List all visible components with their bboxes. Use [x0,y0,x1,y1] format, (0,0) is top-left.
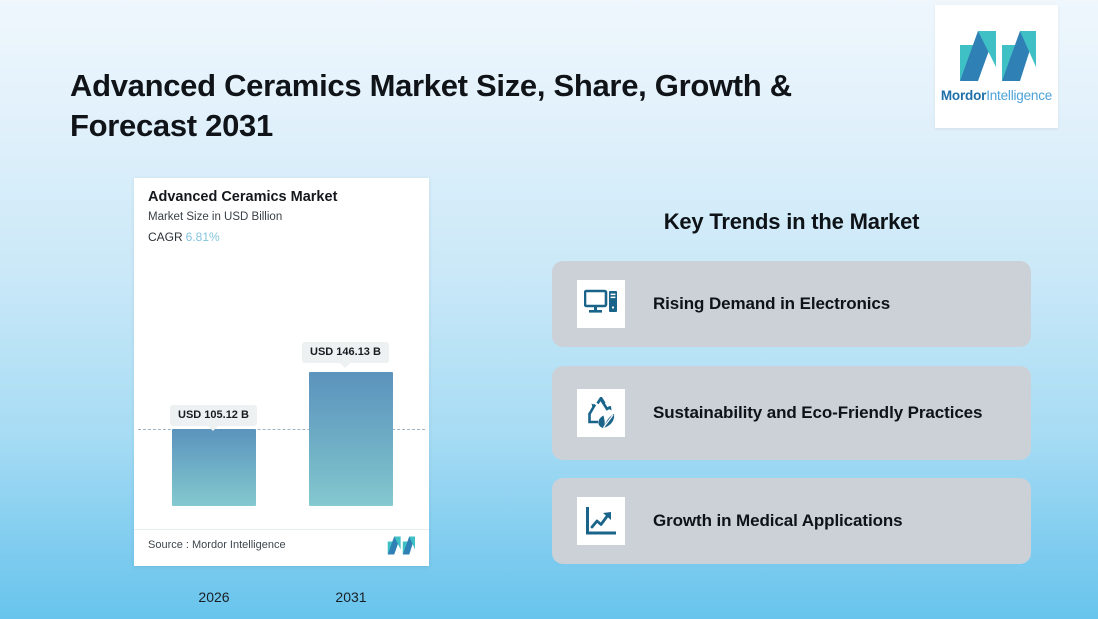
trend-card-electronics[interactable]: Rising Demand in Electronics [552,261,1031,347]
trend-label: Growth in Medical Applications [653,509,903,534]
brand-name-bold: Mordor [941,88,986,103]
trend-icon-box [577,280,625,328]
trend-icon-box [577,389,625,437]
bar-2031 [309,372,393,506]
chart-title: Advanced Ceramics Market [148,189,337,205]
growth-chart-icon [585,506,617,536]
trend-card-sustainability[interactable]: Sustainability and Eco-Friendly Practice… [552,366,1031,460]
chart-cagr: CAGR6.81% [148,230,220,244]
data-label-2031: USD 146.13 B [302,342,389,363]
trend-icon-box [577,497,625,545]
page-title: Advanced Ceramics Market Size, Share, Gr… [70,66,870,147]
chart-source-text: Source : Mordor Intelligence [148,539,286,551]
chart-plot-area: USD 105.12 B USD 146.13 B 2026 2031 [134,256,429,506]
chart-subtitle: Market Size in USD Billion [148,211,282,223]
trend-label: Rising Demand in Electronics [653,292,890,317]
x-axis-label-2031: 2031 [309,589,393,605]
data-label-2026: USD 105.12 B [170,405,257,426]
trend-card-medical[interactable]: Growth in Medical Applications [552,478,1031,564]
footer-mordor-logo-icon [387,536,415,555]
trends-heading: Key Trends in the Market [552,209,1031,235]
bar-2026 [172,429,256,506]
trend-label: Sustainability and Eco-Friendly Practice… [653,401,982,426]
desktop-computer-icon [584,289,618,319]
chart-footer: Source : Mordor Intelligence [134,529,429,566]
cagr-value: 6.81% [186,230,220,244]
brand-name-light: Intelligence [986,88,1052,103]
market-size-chart-card: Advanced Ceramics Market Market Size in … [134,178,429,566]
x-axis-label-2026: 2026 [172,589,256,605]
mordor-m-logo-icon [958,31,1036,81]
brand-logo-card: MordorIntelligence [935,5,1058,128]
brand-wordmark: MordorIntelligence [941,88,1052,103]
cagr-label: CAGR [148,230,183,244]
recycle-leaf-icon [585,397,617,429]
